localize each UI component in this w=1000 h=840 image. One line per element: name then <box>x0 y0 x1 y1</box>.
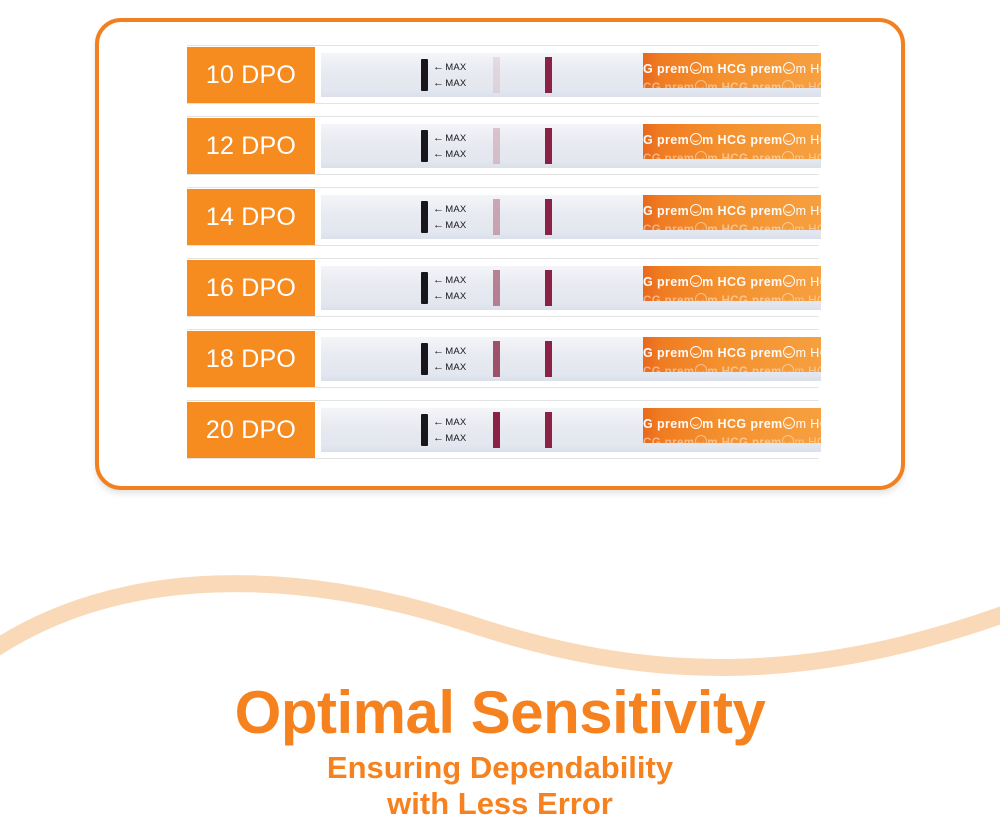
premom-logo-icon <box>695 80 707 92</box>
strip-handle-branding: G premm HCG premm HCG pCG premm HCG prem… <box>643 124 821 168</box>
test-line <box>493 199 500 235</box>
strip-handle-branding: G premm HCG premm HCG pCG premm HCG prem… <box>643 53 821 97</box>
left-arrow-icon: ← <box>433 219 444 231</box>
max-fill-bar <box>421 272 428 304</box>
max-label: MAX <box>445 78 466 89</box>
headline-subtitle-line1: Ensuring Dependability <box>0 750 1000 786</box>
max-level-indicator: ←MAX <box>433 219 466 231</box>
test-strip-row: ←MAX←MAXG premm HCG premm HCG pCG premm … <box>99 39 909 110</box>
max-level-indicator: ←MAX <box>433 77 466 89</box>
headline-block: Optimal Sensitivity Ensuring Dependabili… <box>0 682 1000 822</box>
max-fill-bar <box>421 343 428 375</box>
brand-text: CG premm HCG premm HCG <box>643 363 821 378</box>
strip-handle-branding: G premm HCG premm HCG pCG premm HCG prem… <box>643 195 821 239</box>
strip-membrane-window <box>321 124 643 168</box>
test-strip-row: ←MAX←MAXG premm HCG premm HCG pCG premm … <box>99 181 909 252</box>
premom-logo-icon <box>783 346 795 358</box>
left-arrow-icon: ← <box>433 61 444 73</box>
brand-text: G premm HCG premm HCG p <box>643 132 821 147</box>
control-line <box>545 270 552 306</box>
premom-logo-icon <box>783 417 795 429</box>
premom-logo-icon <box>782 364 794 376</box>
premom-logo-icon <box>783 62 795 74</box>
control-line <box>545 199 552 235</box>
premom-logo-icon <box>695 435 707 447</box>
dpo-label-18: 18 DPO <box>187 331 315 387</box>
dpo-label-text: 10 DPO <box>206 61 296 90</box>
max-label: MAX <box>445 433 466 444</box>
max-level-indicator: ←MAX <box>433 361 466 373</box>
premom-logo-icon <box>695 364 707 376</box>
max-level-indicator: ←MAX <box>433 274 466 286</box>
test-strip-row: ←MAX←MAXG premm HCG premm HCG pCG premm … <box>99 394 909 465</box>
brand-text: CG premm HCG premm HCG <box>643 292 821 307</box>
left-arrow-icon: ← <box>433 361 444 373</box>
test-strip: ←MAX←MAXG premm HCG premm HCG pCG premm … <box>321 266 821 310</box>
dpo-label-text: 20 DPO <box>206 416 296 445</box>
premom-logo-icon <box>690 62 702 74</box>
max-level-indicator: ←MAX <box>433 345 466 357</box>
test-strip-row: ←MAX←MAXG premm HCG premm HCG pCG premm … <box>99 323 909 394</box>
premom-logo-icon <box>695 151 707 163</box>
max-level-indicator: ←MAX <box>433 203 466 215</box>
test-strip: ←MAX←MAXG premm HCG premm HCG pCG premm … <box>321 124 821 168</box>
max-level-indicator: ←MAX <box>433 148 466 160</box>
brand-text: CG premm HCG premm HCG <box>643 434 821 449</box>
left-arrow-icon: ← <box>433 345 444 357</box>
test-strip: ←MAX←MAXG premm HCG premm HCG pCG premm … <box>321 53 821 97</box>
control-line <box>545 57 552 93</box>
strip-membrane-window <box>321 337 643 381</box>
max-label: MAX <box>445 275 466 286</box>
left-arrow-icon: ← <box>433 432 444 444</box>
max-fill-bar <box>421 59 428 91</box>
brand-text: CG premm HCG premm HCG <box>643 150 821 165</box>
strip-membrane-window <box>321 195 643 239</box>
premom-logo-icon <box>783 275 795 287</box>
max-label: MAX <box>445 149 466 160</box>
premom-logo-icon <box>782 151 794 163</box>
premom-logo-icon <box>782 435 794 447</box>
left-arrow-icon: ← <box>433 416 444 428</box>
max-fill-bar <box>421 414 428 446</box>
brand-text: CG premm HCG premm HCG <box>643 79 821 94</box>
brand-text: G premm HCG premm HCG p <box>643 345 821 360</box>
premom-logo-icon <box>690 204 702 216</box>
max-fill-bar <box>421 130 428 162</box>
max-level-indicator: ←MAX <box>433 132 466 144</box>
max-fill-bar <box>421 201 428 233</box>
strip-handle-branding: G premm HCG premm HCG pCG premm HCG prem… <box>643 337 821 381</box>
dpo-label-12: 12 DPO <box>187 118 315 174</box>
left-arrow-icon: ← <box>433 148 444 160</box>
max-label: MAX <box>445 220 466 231</box>
left-arrow-icon: ← <box>433 132 444 144</box>
test-strip-row: ←MAX←MAXG premm HCG premm HCG pCG premm … <box>99 110 909 181</box>
dpo-label-14: 14 DPO <box>187 189 315 245</box>
control-line <box>545 341 552 377</box>
left-arrow-icon: ← <box>433 77 444 89</box>
left-arrow-icon: ← <box>433 203 444 215</box>
dpo-label-20: 20 DPO <box>187 402 315 458</box>
pregnancy-test-progression-panel: ←MAX←MAXG premm HCG premm HCG pCG premm … <box>95 18 905 490</box>
control-line <box>545 128 552 164</box>
strip-membrane-window <box>321 408 643 452</box>
test-line <box>493 57 500 93</box>
max-label: MAX <box>445 204 466 215</box>
premom-logo-icon <box>783 133 795 145</box>
dpo-label-16: 16 DPO <box>187 260 315 316</box>
premom-logo-icon <box>782 293 794 305</box>
test-strip: ←MAX←MAXG premm HCG premm HCG pCG premm … <box>321 195 821 239</box>
premom-logo-icon <box>690 417 702 429</box>
brand-text: G premm HCG premm HCG p <box>643 416 821 431</box>
test-strip: ←MAX←MAXG premm HCG premm HCG pCG premm … <box>321 337 821 381</box>
max-label: MAX <box>445 291 466 302</box>
brand-text: G premm HCG premm HCG p <box>643 274 821 289</box>
strip-handle-branding: G premm HCG premm HCG pCG premm HCG prem… <box>643 266 821 310</box>
premom-logo-icon <box>690 275 702 287</box>
premom-logo-icon <box>690 346 702 358</box>
test-line <box>493 128 500 164</box>
max-label: MAX <box>445 346 466 357</box>
test-line <box>493 270 500 306</box>
dpo-label-text: 16 DPO <box>206 274 296 303</box>
headline-title: Optimal Sensitivity <box>0 682 1000 744</box>
test-line <box>493 412 500 448</box>
max-level-indicator: ←MAX <box>433 290 466 302</box>
max-label: MAX <box>445 133 466 144</box>
max-level-indicator: ←MAX <box>433 61 466 73</box>
max-label: MAX <box>445 417 466 428</box>
max-level-indicator: ←MAX <box>433 432 466 444</box>
dpo-label-text: 12 DPO <box>206 132 296 161</box>
premom-logo-icon <box>783 204 795 216</box>
brand-text: CG premm HCG premm HCG <box>643 221 821 236</box>
premom-logo-icon <box>695 293 707 305</box>
decorative-wave <box>0 520 1000 700</box>
control-line <box>545 412 552 448</box>
headline-subtitle-line2: with Less Error <box>0 786 1000 822</box>
strip-handle-branding: G premm HCG premm HCG pCG premm HCG prem… <box>643 408 821 452</box>
test-line <box>493 341 500 377</box>
max-label: MAX <box>445 362 466 373</box>
premom-logo-icon <box>690 133 702 145</box>
left-arrow-icon: ← <box>433 290 444 302</box>
brand-text: G premm HCG premm HCG p <box>643 61 821 76</box>
max-label: MAX <box>445 62 466 73</box>
max-level-indicator: ←MAX <box>433 416 466 428</box>
dpo-label-text: 18 DPO <box>206 345 296 374</box>
premom-logo-icon <box>782 222 794 234</box>
brand-text: G premm HCG premm HCG p <box>643 203 821 218</box>
test-strip-row: ←MAX←MAXG premm HCG premm HCG pCG premm … <box>99 252 909 323</box>
strip-membrane-window <box>321 53 643 97</box>
test-strip: ←MAX←MAXG premm HCG premm HCG pCG premm … <box>321 408 821 452</box>
premom-logo-icon <box>782 80 794 92</box>
dpo-label-10: 10 DPO <box>187 47 315 103</box>
strip-membrane-window <box>321 266 643 310</box>
premom-logo-icon <box>695 222 707 234</box>
left-arrow-icon: ← <box>433 274 444 286</box>
dpo-label-text: 14 DPO <box>206 203 296 232</box>
